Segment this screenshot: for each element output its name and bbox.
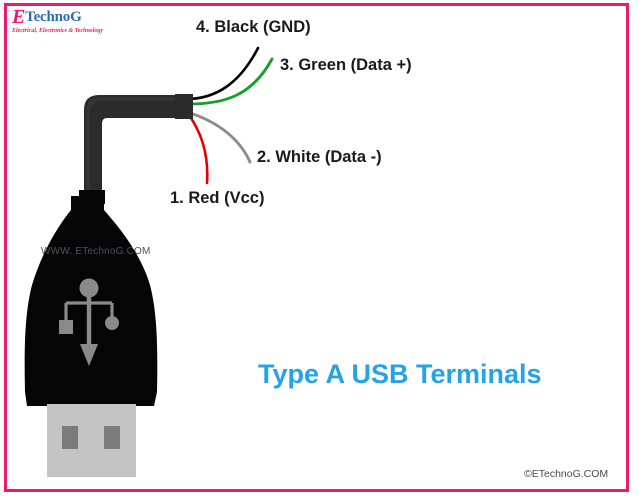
plug-notch-right [104,426,120,449]
wire-label-black-gnd: 4. Black (GND) [196,18,311,37]
plug-notch-left [62,426,78,449]
connector-neck [79,190,105,204]
metal-plug-shell [47,404,136,477]
diagram-canvas: ETechnoG Electrical, Electronics & Techn… [0,0,639,502]
wire-black-gnd [189,48,258,99]
wire-label-white-data-minus: 2. White (Data -) [257,148,382,167]
wire-red-vcc [189,115,207,183]
diagram-title: Type A USB Terminals [258,359,542,390]
wire-label-green-data-plus: 3. Green (Data +) [280,56,412,75]
wire-label-red-vcc: 1. Red (Vcc) [170,189,264,208]
watermark-text: WWW. ETechnoG.COM [41,246,151,257]
wire-white-data-minus [190,113,250,162]
cable-end-cap [175,94,193,119]
copyright-credit: ©ETechnoG.COM [524,468,608,480]
